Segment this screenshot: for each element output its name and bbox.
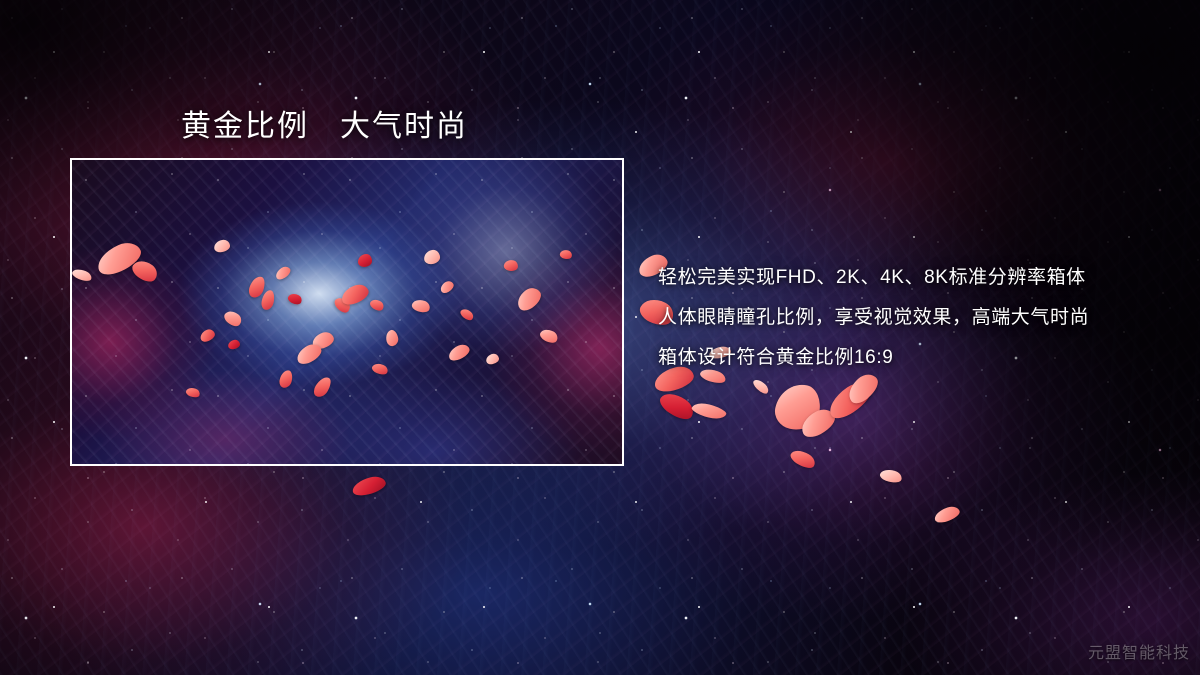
rose-petal — [411, 298, 432, 315]
rose-petal — [384, 329, 400, 347]
rose-petal — [274, 265, 293, 282]
rose-petal — [423, 249, 440, 265]
rose-petal — [538, 326, 560, 345]
rose-petal — [339, 282, 371, 308]
rose-petal — [503, 259, 519, 273]
framed-rose-petals — [72, 160, 622, 464]
rose-petal — [222, 308, 244, 330]
rose-petal — [751, 377, 770, 396]
presentation-slide: 黄金比例 大气时尚 轻松完美实现FHD、2K、4K、8K标准分辨率箱体 人体眼睛… — [0, 0, 1200, 675]
slide-title: 黄金比例 大气时尚 — [181, 101, 468, 145]
rose-petal — [438, 279, 455, 295]
feature-description-block: 轻松完美实现FHD、2K、4K、8K标准分辨率箱体 人体眼睛瞳孔比例，享受视觉效… — [658, 258, 1178, 378]
rose-petal — [446, 342, 471, 363]
description-line-1: 轻松完美实现FHD、2K、4K、8K标准分辨率箱体 — [658, 258, 1178, 298]
rose-petal — [351, 474, 388, 498]
rose-petal — [278, 369, 293, 389]
rose-petal — [260, 289, 275, 311]
rose-petal — [371, 361, 390, 376]
rose-petal — [368, 297, 385, 313]
rose-petal — [185, 386, 201, 399]
company-watermark: 元盟智能科技 — [1088, 639, 1190, 663]
rose-petal — [72, 267, 93, 284]
rose-petal — [198, 328, 216, 344]
description-line-3: 箱体设计符合黄金比例16:9 — [658, 338, 1178, 378]
rose-petal — [227, 339, 240, 350]
rose-petal — [933, 504, 962, 524]
rose-petal — [691, 398, 728, 425]
rose-petal — [358, 254, 372, 267]
description-line-2: 人体眼睛瞳孔比例，享受视觉效果，高端大气时尚 — [658, 298, 1178, 338]
rose-petal — [311, 374, 333, 400]
rose-petal — [788, 446, 818, 471]
rose-petal — [459, 307, 476, 323]
rose-petal — [513, 284, 545, 314]
rose-petal — [485, 353, 500, 365]
rose-petal — [213, 239, 231, 253]
rose-petal — [559, 249, 573, 261]
rose-petal — [879, 467, 903, 485]
rose-petal — [287, 291, 304, 306]
